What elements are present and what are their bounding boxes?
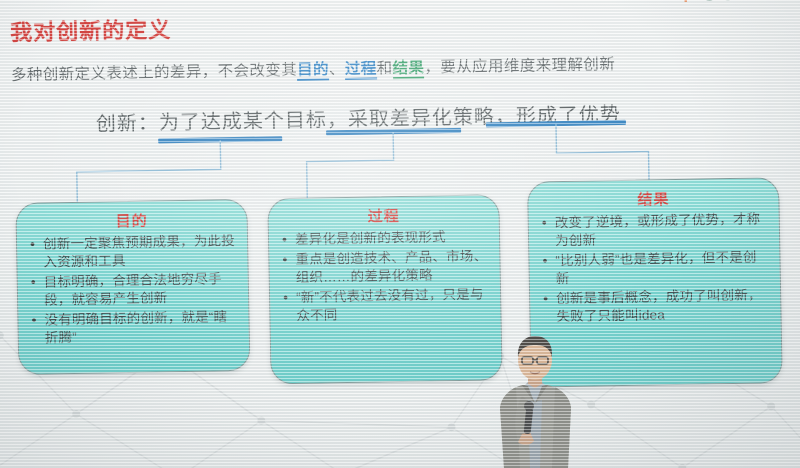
subtitle-part-2: ，要从应用维度来理解创新 [424, 56, 615, 76]
list-item: “比别人弱”也是差异化，但不是创新 [555, 248, 768, 288]
brand-logo: JUSFO [675, 0, 798, 7]
connector-to-purpose [76, 140, 221, 204]
subtitle-separator-2: 和 [377, 60, 393, 77]
box-title-process: 过程 [278, 203, 488, 228]
keyword-process: 过程 [345, 60, 377, 80]
box-title-result: 结果 [538, 186, 768, 211]
box-bullet-list-purpose: 创新一定聚焦预期成果，为此投入资源和工具 目标明确，合理合法地穷尽手段，就容易产… [27, 232, 239, 348]
underline-bar-purpose [158, 136, 282, 143]
presenter-photo [470, 330, 600, 468]
underline-bar-process [326, 128, 461, 135]
slide-subtitle: 多种创新定义表述上的差异，不会改变其目的、过程和结果，要从应用维度来理解创新 [11, 52, 616, 85]
sprout-logo-icon [675, 0, 695, 3]
connector-to-result [556, 122, 649, 183]
list-item: 差异化是创新的表现形式 [295, 227, 487, 248]
photo-of-presentation-screen: 我对创新的定义 多种创新定义表述上的差异，不会改变其目的、过程和结果，要从应用维… [0, 0, 800, 468]
box-bullet-list-result: 改变了逆境，或形成了优势，才称为创新 “比别人弱”也是差异化，但不是创新 创新是… [539, 210, 771, 326]
list-item: 创新是事后概念，成功了叫创新，失败了只能叫idea [556, 286, 769, 326]
page-title: 我对创新的定义 [10, 12, 172, 47]
box-bullet-list-process: 差异化是创新的表现形式 重点是创造技术、产品、市场、组织……的差异化策略 “新”… [279, 227, 491, 325]
keyword-result: 结果 [392, 60, 424, 80]
concept-box-process: 过程 差异化是创新的表现形式 重点是创造技术、产品、市场、组织……的差异化策略 … [267, 194, 502, 384]
box-title-purpose: 目的 [26, 208, 236, 233]
subtitle-separator-1: 、 [329, 61, 345, 78]
keyword-purpose: 目的 [297, 61, 329, 81]
brand-logo-text: JUSFO [702, 0, 798, 5]
list-item: 目标明确，合理合法地穷尽手段，就容易产生创新 [44, 270, 237, 309]
list-item: 没有明确目标的创新，就是“瞎折腾” [44, 308, 237, 347]
list-item: 改变了逆境，或形成了优势，才称为创新 [555, 210, 768, 250]
subtitle-part-1: 多种创新定义表述上的差异，不会改变其 [11, 62, 297, 84]
concept-box-purpose: 目的 创新一定聚焦预期成果，为此投入资源和工具 目标明确，合理合法地穷尽手段，就… [15, 199, 250, 375]
slide-surface: 我对创新的定义 多种创新定义表述上的差异，不会改变其目的、过程和结果，要从应用维… [0, 0, 800, 468]
list-item: 创新一定聚焦预期成果，为此投入资源和工具 [43, 232, 236, 271]
connector-to-process [306, 132, 394, 200]
list-item: 重点是创造技术、产品、市场、组织……的差异化策略 [295, 247, 488, 286]
list-item: “新”不代表过去没有过，只是与众不同 [296, 285, 489, 324]
